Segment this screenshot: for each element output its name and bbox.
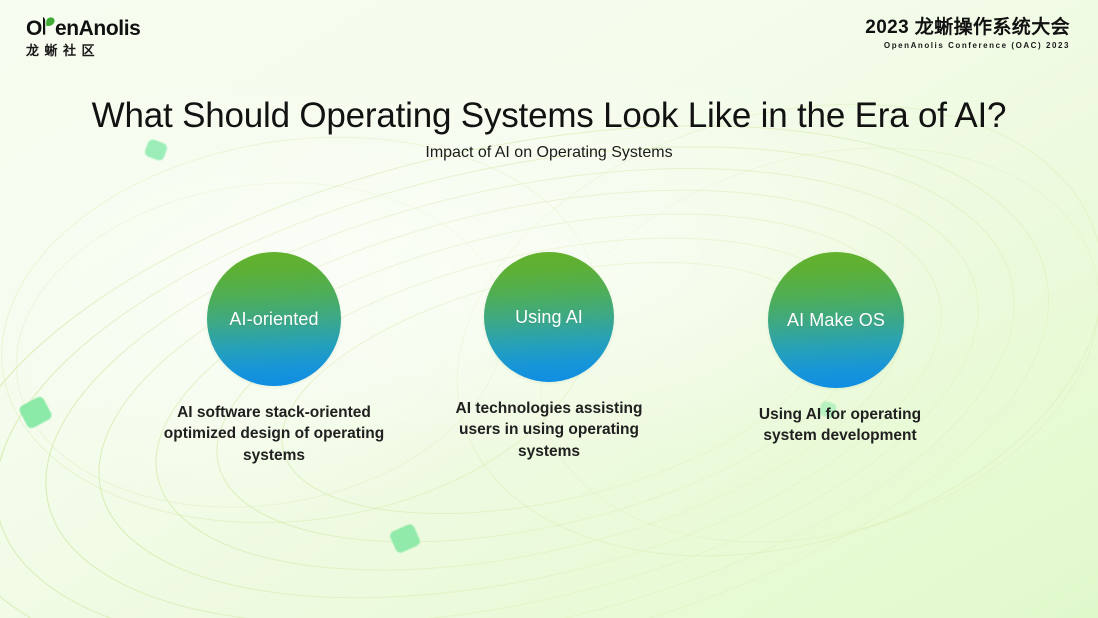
slide: O en Anolis 龙蜥社区 2023 龙蜥操作系统大会 OpenAnoli… (0, 0, 1098, 618)
pillar-caption: AI technologies assisting users in using… (433, 398, 665, 462)
page-subtitle: Impact of AI on Operating Systems (0, 144, 1098, 162)
pillar-bubble-label: AI Make OS (787, 310, 885, 331)
pillar-caption: Using AI for operating system developmen… (731, 404, 949, 447)
conference-branding: 2023 龙蜥操作系统大会 OpenAnolis Conference (OAC… (865, 17, 1070, 50)
pillar-ai-make-os: AI Make OS Using AI for operating system… (691, 252, 981, 447)
logo-word-part1: O (26, 18, 42, 39)
conference-title: 2023 龙蜥操作系统大会 (865, 17, 1070, 39)
pillar-bubble-label: AI-oriented (229, 309, 318, 330)
pillar-bubble: Using AI (484, 252, 614, 382)
logo-wordmark: O en Anolis (26, 14, 140, 39)
openanolis-logo: O en Anolis 龙蜥社区 (26, 14, 140, 57)
pillar-ai-oriented: AI-oriented AI software stack-oriented o… (129, 252, 419, 466)
logo-word-part3: Anolis (79, 18, 141, 39)
leaf-icon (42, 14, 55, 35)
pillar-using-ai: Using AI AI technologies assisting users… (404, 252, 694, 462)
conference-subtitle: OpenAnolis Conference (OAC) 2023 (865, 42, 1070, 50)
pillar-bubble: AI-oriented (207, 252, 341, 386)
pillar-bubble-label: Using AI (515, 307, 583, 328)
slide-header: O en Anolis 龙蜥社区 2023 龙蜥操作系统大会 OpenAnoli… (0, 0, 1098, 74)
page-title: What Should Operating Systems Look Like … (0, 96, 1098, 136)
logo-chinese-name: 龙蜥社区 (26, 44, 140, 57)
confetti-square (388, 523, 421, 555)
pillar-caption: AI software stack-oriented optimized des… (149, 402, 399, 466)
logo-word-part2: en (55, 18, 79, 39)
pillars-group: AI-oriented AI software stack-oriented o… (0, 252, 1098, 482)
pillar-bubble: AI Make OS (768, 252, 904, 388)
